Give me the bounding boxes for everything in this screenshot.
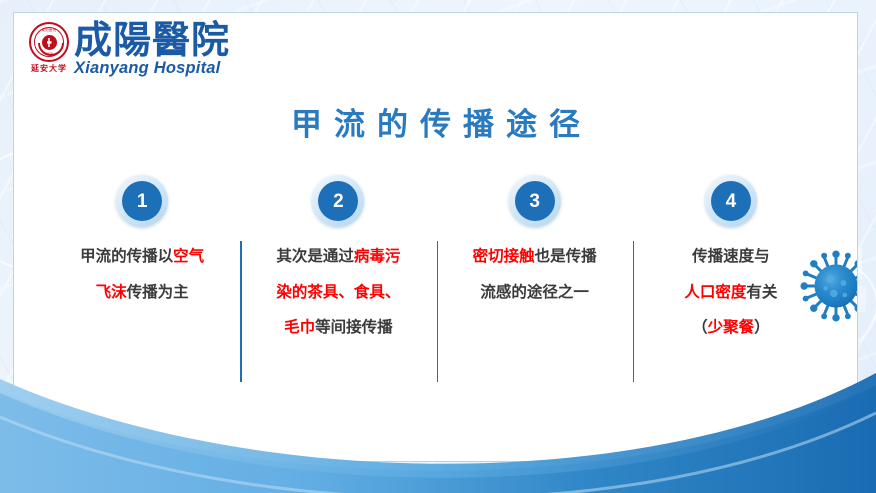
emblem-top-text: 咸阳医院 xyxy=(31,29,67,32)
route-description-line: 其次是通过病毒污 xyxy=(276,249,400,265)
step-badge-wrapper: 4 xyxy=(705,175,757,227)
highlighted-text: 染的茶具、食具、 xyxy=(276,284,400,301)
plain-text: 有关 xyxy=(746,284,777,301)
page-title: 甲流的传播途径 xyxy=(14,99,857,144)
transmission-routes-list: 1甲流的传播以空气飞沫传播为主2其次是通过病毒污染的茶具、食具、毛巾等间接传播3… xyxy=(44,173,829,393)
logo-name-en: Xianyang Hospital xyxy=(74,59,230,77)
highlighted-text: 人口密度 xyxy=(684,284,746,301)
emblem-circle-icon: 咸阳医院 1939 xyxy=(29,22,69,62)
plain-text: （ xyxy=(692,319,708,336)
logo-emblem: 咸阳医院 1939 延安大学 xyxy=(26,21,72,74)
plain-text: 等间接传播 xyxy=(315,319,393,336)
route-column-2: 2其次是通过病毒污染的茶具、食具、毛巾等间接传播 xyxy=(240,173,436,393)
route-description: 传播速度与人口密度有关（少聚餐） xyxy=(684,249,777,336)
plain-text: 其次是通过 xyxy=(276,248,354,265)
route-description-line: 流感的途径之一 xyxy=(473,285,597,301)
route-description: 密切接触也是传播流感的途径之一 xyxy=(473,249,597,300)
column-divider xyxy=(633,241,635,382)
highlighted-text: 空气 xyxy=(173,248,204,265)
slide-canvas: 咸阳医院 1939 延安大学 成陽醫院 Xianyang Hospital 甲流… xyxy=(0,0,876,493)
column-divider xyxy=(437,241,439,382)
route-column-3: 3密切接触也是传播流感的途径之一 xyxy=(437,173,633,393)
plain-text: 传播速度与 xyxy=(692,248,770,265)
column-divider xyxy=(240,241,242,382)
plain-text: ） xyxy=(754,319,770,336)
highlighted-text: 密切接触 xyxy=(473,248,535,265)
step-badge-number: 3 xyxy=(515,181,555,221)
plain-text: 甲流的传播以 xyxy=(80,248,173,265)
route-description-line: 人口密度有关 xyxy=(684,285,777,301)
route-description: 甲流的传播以空气飞沫传播为主 xyxy=(80,249,204,300)
emblem-bottom-text: 1939 xyxy=(31,53,67,56)
emblem-caption: 延安大学 xyxy=(26,63,72,74)
route-description-line: （少聚餐） xyxy=(684,320,777,336)
step-badge-wrapper: 2 xyxy=(312,175,364,227)
route-description-line: 甲流的传播以空气 xyxy=(80,249,204,265)
step-badge-wrapper: 3 xyxy=(509,175,561,227)
route-description-line: 毛巾等间接传播 xyxy=(276,320,400,336)
highlighted-text: 病毒污 xyxy=(354,248,401,265)
step-badge-number: 4 xyxy=(711,181,751,221)
plain-text: 流感的途径之一 xyxy=(480,284,589,301)
route-description-line: 飞沫传播为主 xyxy=(80,285,204,301)
route-description-line: 染的茶具、食具、 xyxy=(276,285,400,301)
route-description-line: 密切接触也是传播 xyxy=(473,249,597,265)
logo-wordmark: 成陽醫院 Xianyang Hospital xyxy=(74,21,230,78)
route-column-1: 1甲流的传播以空气飞沫传播为主 xyxy=(44,173,240,393)
route-description: 其次是通过病毒污染的茶具、食具、毛巾等间接传播 xyxy=(276,249,400,336)
hospital-logo: 咸阳医院 1939 延安大学 成陽醫院 Xianyang Hospital xyxy=(26,21,230,78)
plain-text: 也是传播 xyxy=(535,248,597,265)
highlighted-text: 毛巾 xyxy=(284,319,315,336)
highlighted-text: 飞沫 xyxy=(96,284,127,301)
highlighted-text: 少聚餐 xyxy=(708,319,755,336)
plain-text: 传播为主 xyxy=(127,284,189,301)
step-badge-wrapper: 1 xyxy=(116,175,168,227)
step-badge-number: 1 xyxy=(122,181,162,221)
route-column-4: 4传播速度与人口密度有关（少聚餐） xyxy=(633,173,829,393)
route-description-line: 传播速度与 xyxy=(684,249,777,265)
emblem-cross-icon xyxy=(42,35,57,50)
content-card: 咸阳医院 1939 延安大学 成陽醫院 Xianyang Hospital 甲流… xyxy=(13,12,858,462)
logo-name-cn: 成陽醫院 xyxy=(74,22,230,58)
